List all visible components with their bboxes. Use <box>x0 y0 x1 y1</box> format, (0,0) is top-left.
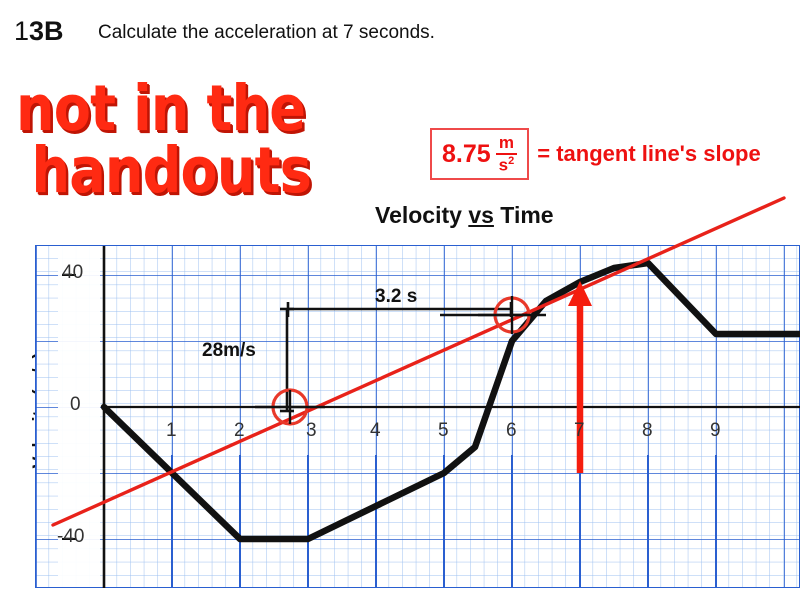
run-annotation-label: 3.2 s <box>375 286 417 308</box>
x-tick-label-7: 7 <box>574 420 585 442</box>
x-tick-label-8: 8 <box>642 420 653 442</box>
x-tick-label-6: 6 <box>506 420 517 442</box>
y-tick-label--40: -40 <box>57 526 84 548</box>
y-tick-label-0: 0 <box>70 394 81 416</box>
slide-canvas: 13B Calculate the acceleration at 7 seco… <box>0 0 800 600</box>
x-tick-label-4: 4 <box>370 420 381 442</box>
y-tick-label-40: 40 <box>62 262 83 284</box>
rise-annotation-label: 28m/s <box>202 340 256 362</box>
x-tick-label-1: 1 <box>166 420 177 442</box>
x-tick-label-5: 5 <box>438 420 449 442</box>
x-tick-label-3: 3 <box>306 420 317 442</box>
x-tick-label-2: 2 <box>234 420 245 442</box>
chart-grid <box>35 245 800 588</box>
x-tick-label-9: 9 <box>710 420 721 442</box>
